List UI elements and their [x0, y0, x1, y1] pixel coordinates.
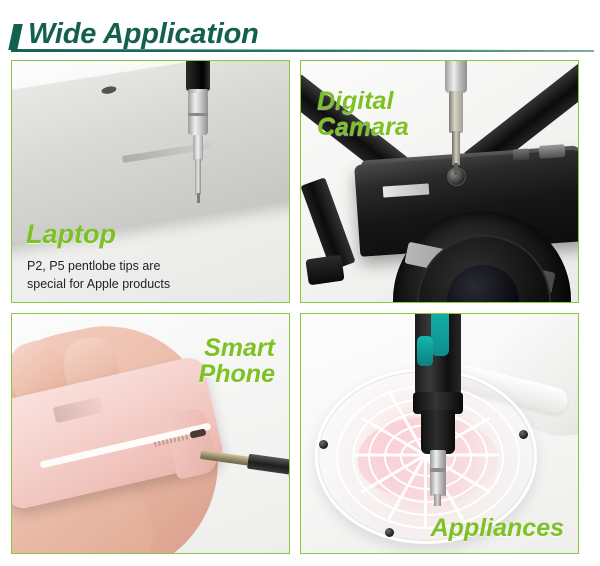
- screwdriver-icon: [180, 61, 214, 207]
- panel-description-laptop: P2, P5 pentlobe tips are special for App…: [27, 257, 170, 293]
- screwdriver-icon: [401, 314, 473, 492]
- page-title: Wide Application: [28, 18, 259, 50]
- panel-label-digital-camara: Digital Camara: [317, 89, 409, 140]
- wide-application-banner: Wide Application: [0, 0, 600, 566]
- application-grid: Laptop P2, P5 pentlobe tips are special …: [11, 60, 589, 554]
- screwdriver-icon: [441, 61, 471, 181]
- panel-label-appliances: Appliances: [431, 516, 564, 542]
- panel-smart-phone: Smart Phone: [11, 313, 290, 554]
- panel-appliances: Appliances: [300, 313, 579, 554]
- panel-laptop: Laptop P2, P5 pentlobe tips are special …: [11, 60, 290, 303]
- panel-label-laptop: Laptop: [26, 221, 116, 249]
- header-accent-bar: [8, 24, 23, 50]
- panel-digital-camara: Digital Camara: [300, 60, 579, 303]
- panel-label-smart-phone: Smart Phone: [199, 336, 275, 387]
- banner-header: Wide Application: [0, 0, 600, 56]
- header-divider: [11, 49, 594, 52]
